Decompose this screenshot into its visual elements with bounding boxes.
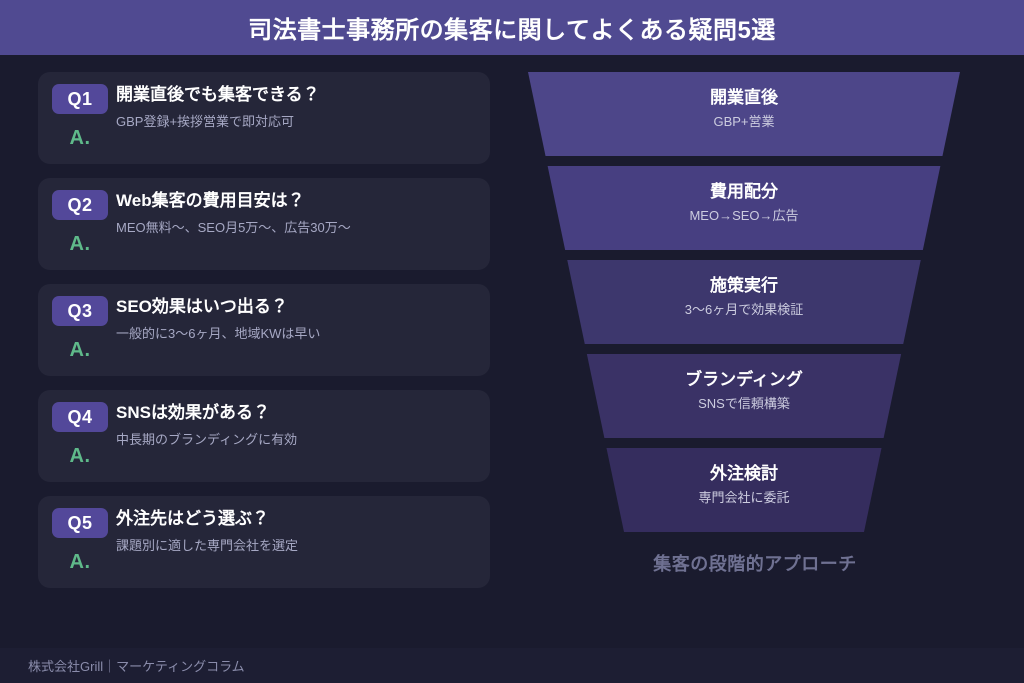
answer-marker: A.: [52, 445, 108, 468]
funnel-stage-subtitle: 3〜6ヶ月で効果検証: [685, 302, 803, 317]
question-text: 開業直後でも集客できる？: [116, 84, 474, 106]
qa-card[interactable]: Q3A.SEO効果はいつ出る？一般的に3〜6ヶ月、地域KWは早い: [38, 284, 490, 376]
footer-text: 株式会社Grill｜マーケティングコラム: [28, 656, 245, 675]
main-stage: Q1A.開業直後でも集客できる？GBP登録+挨拶営業で即対応可Q2A.Web集客…: [0, 55, 1024, 648]
funnel-stage-subtitle: MEO→SEO→広告: [689, 208, 798, 223]
funnel-diagram: 開業直後GBP+営業費用配分MEO→SEO→広告施策実行3〜6ヶ月で効果検証ブラ…: [520, 55, 990, 615]
qa-marker-column: Q5A.: [52, 508, 108, 574]
answer-text: MEO無料〜、SEO月5万〜、広告30万〜: [116, 219, 474, 237]
qa-card[interactable]: Q1A.開業直後でも集客できる？GBP登録+挨拶営業で即対応可: [38, 72, 490, 164]
qa-marker-column: Q2A.: [52, 190, 108, 256]
answer-text: 一般的に3〜6ヶ月、地域KWは早い: [116, 325, 474, 343]
question-badge: Q3: [52, 296, 108, 326]
funnel-stage-subtitle: 専門会社に委託: [698, 490, 789, 505]
question-text: Web集客の費用目安は？: [116, 190, 474, 212]
question-badge: Q1: [52, 84, 108, 114]
qa-body: Web集客の費用目安は？MEO無料〜、SEO月5万〜、広告30万〜: [116, 190, 474, 237]
qa-marker-column: Q4A.: [52, 402, 108, 468]
page-title: 司法書士事務所の集客に関してよくある疑問5選: [248, 10, 776, 45]
answer-marker: A.: [52, 233, 108, 256]
qa-card-list: Q1A.開業直後でも集客できる？GBP登録+挨拶営業で即対応可Q2A.Web集客…: [38, 72, 490, 602]
answer-text: 中長期のブランディングに有効: [116, 431, 474, 449]
question-badge: Q5: [52, 508, 108, 538]
qa-marker-column: Q3A.: [52, 296, 108, 362]
funnel-stage-title: 費用配分: [710, 181, 779, 201]
question-text: SEO効果はいつ出る？: [116, 296, 474, 318]
qa-body: SEO効果はいつ出る？一般的に3〜6ヶ月、地域KWは早い: [116, 296, 474, 343]
funnel-stage-subtitle: GBP+営業: [713, 114, 774, 129]
funnel-stage-subtitle: SNSで信頼構築: [698, 396, 790, 411]
header-bar: 司法書士事務所の集客に関してよくある疑問5選: [0, 0, 1024, 55]
question-badge: Q4: [52, 402, 108, 432]
qa-card[interactable]: Q5A.外注先はどう選ぶ？課題別に適した専門会社を選定: [38, 496, 490, 588]
qa-marker-column: Q1A.: [52, 84, 108, 150]
qa-body: SNSは効果がある？中長期のブランディングに有効: [116, 402, 474, 449]
answer-marker: A.: [52, 339, 108, 362]
funnel-stage-title: 施策実行: [710, 275, 778, 295]
answer-marker: A.: [52, 551, 108, 574]
qa-body: 外注先はどう選ぶ？課題別に適した専門会社を選定: [116, 508, 474, 555]
qa-card[interactable]: Q2A.Web集客の費用目安は？MEO無料〜、SEO月5万〜、広告30万〜: [38, 178, 490, 270]
qa-card[interactable]: Q4A.SNSは効果がある？中長期のブランディングに有効: [38, 390, 490, 482]
funnel-stage-title: 外注検討: [709, 463, 778, 483]
footer-bar: 株式会社Grill｜マーケティングコラム: [0, 648, 1024, 683]
answer-text: GBP登録+挨拶営業で即対応可: [116, 113, 474, 131]
answer-text: 課題別に適した専門会社を選定: [116, 537, 474, 555]
question-badge: Q2: [52, 190, 108, 220]
funnel-stage-title: 開業直後: [710, 87, 779, 107]
question-text: 外注先はどう選ぶ？: [116, 508, 474, 530]
funnel-stage-title: ブランディング: [685, 369, 803, 389]
funnel-caption: 集客の段階的アプローチ: [520, 550, 990, 576]
qa-body: 開業直後でも集客できる？GBP登録+挨拶営業で即対応可: [116, 84, 474, 131]
question-text: SNSは効果がある？: [116, 402, 474, 424]
funnel-svg: 開業直後GBP+営業費用配分MEO→SEO→広告施策実行3〜6ヶ月で効果検証ブラ…: [520, 55, 990, 555]
answer-marker: A.: [52, 127, 108, 150]
